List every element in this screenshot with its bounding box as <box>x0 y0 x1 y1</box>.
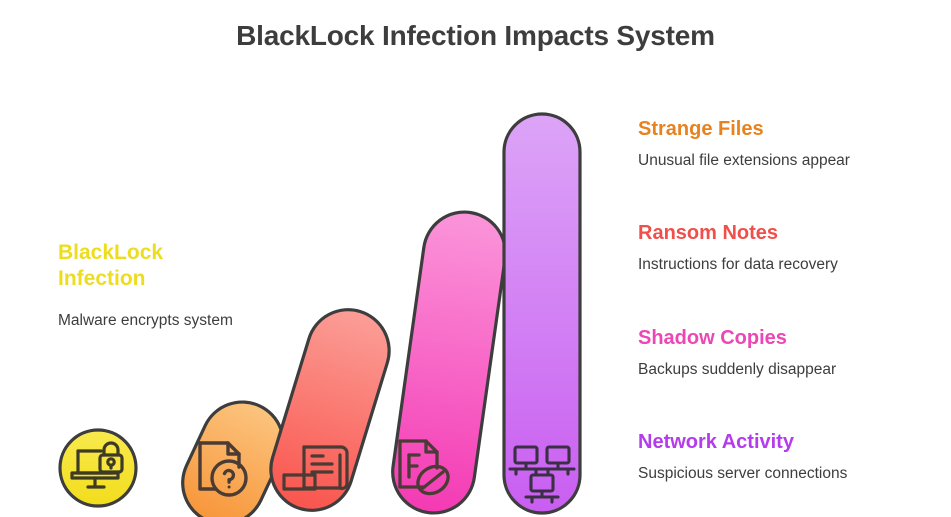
label-subtitle-network-activity: Suspicious server connections <box>638 465 938 484</box>
label-group-shadow-copies: Shadow Copies Backups suddenly disappear <box>638 327 938 380</box>
bar-ransom-notes[interactable] <box>261 300 400 517</box>
label-heading-strange-files: Strange Files <box>638 118 938 140</box>
label-group-ransom-notes: Ransom Notes Instructions for data recov… <box>638 222 938 275</box>
left-heading: BlackLock Infection <box>58 240 298 293</box>
label-group-strange-files: Strange Files Unusual file extensions ap… <box>638 118 938 171</box>
label-subtitle-shadow-copies: Backups suddenly disappear <box>638 361 938 380</box>
label-heading-shadow-copies: Shadow Copies <box>638 327 938 349</box>
label-heading-ransom-notes: Ransom Notes <box>638 222 938 244</box>
left-subtitle: Malware encrypts system <box>58 311 298 331</box>
bar-shadow-copies[interactable] <box>387 207 510 517</box>
blacklock-infection-badge[interactable] <box>60 430 136 506</box>
left-text-block: BlackLock Infection Malware encrypts sys… <box>58 240 298 331</box>
label-group-network-activity: Network Activity Suspicious server conne… <box>638 431 938 484</box>
infographic-canvas: BlackLock Infection Impacts System <box>0 0 951 517</box>
label-heading-network-activity: Network Activity <box>638 431 938 453</box>
label-subtitle-strange-files: Unusual file extensions appear <box>638 152 938 171</box>
label-subtitle-ransom-notes: Instructions for data recovery <box>638 256 938 275</box>
